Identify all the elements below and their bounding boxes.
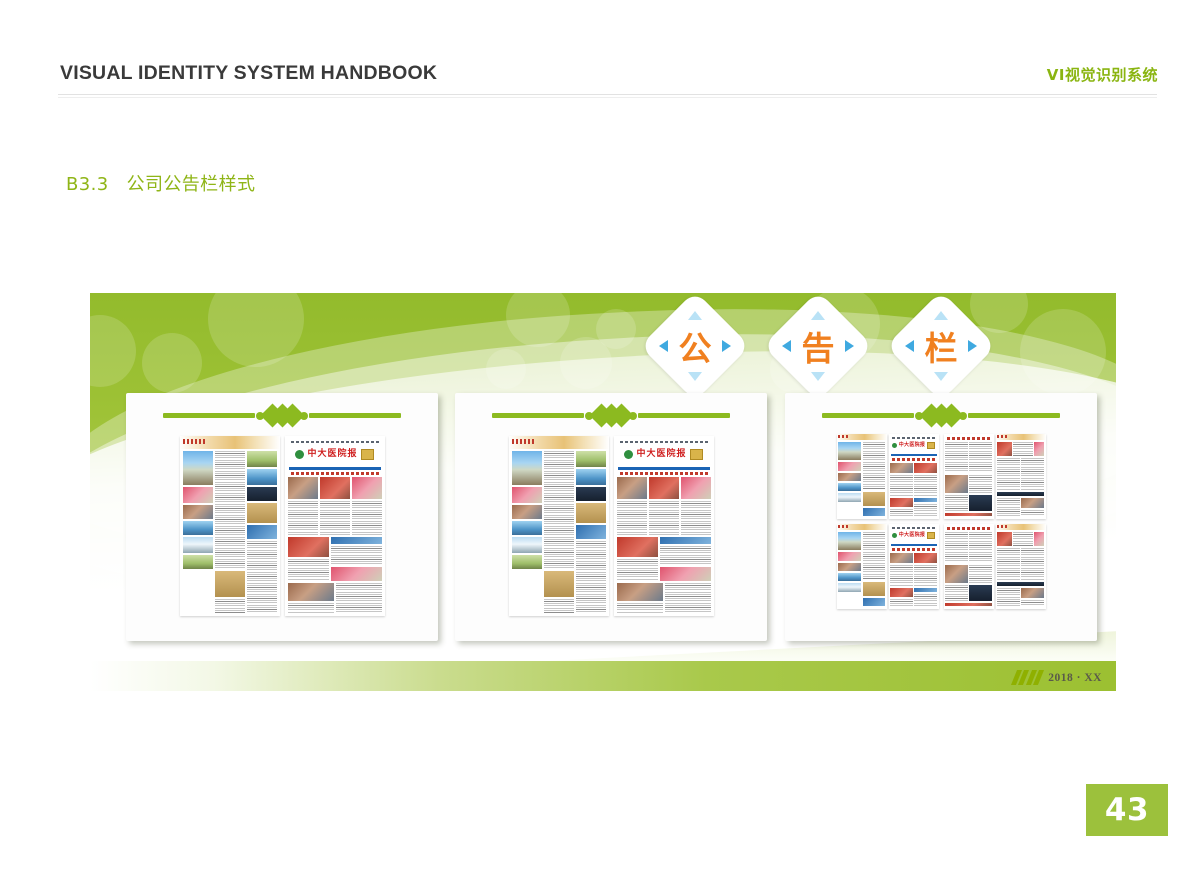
board-footer-strip — [90, 661, 1116, 691]
np-topbar — [837, 434, 887, 440]
np-topbar — [837, 524, 887, 530]
newspaper-title: 中大医院报 — [891, 532, 937, 539]
newspaper-page-masthead: 中大医院报 — [889, 434, 939, 519]
header-divider — [58, 94, 1157, 95]
newspaper-spread: 中大医院报 — [509, 436, 714, 616]
newspaper-page-masthead: 中大医院报 — [285, 436, 385, 616]
section-code: B3.3 — [66, 174, 109, 195]
section-heading: B3.3公司公告栏样式 — [66, 170, 255, 196]
np-body — [180, 449, 280, 616]
newspaper-page — [996, 524, 1046, 609]
newspaper-page — [509, 436, 609, 616]
newspaper-page-masthead: 中大医院报 — [614, 436, 714, 616]
np-blue-rule — [289, 467, 381, 470]
newspaper-title: 中大医院报 — [289, 449, 381, 460]
np-body — [614, 475, 714, 616]
np-blue-rule — [618, 467, 710, 470]
np-body — [944, 530, 994, 609]
np-masthead: 中大医院报 — [285, 443, 385, 466]
panel-divider — [126, 407, 438, 424]
np-stamp-icon — [690, 449, 703, 460]
header-divider-secondary — [58, 97, 1157, 98]
np-blue-rule — [891, 454, 937, 457]
np-topbar — [509, 436, 609, 449]
np-body — [889, 551, 939, 609]
newspaper-page — [180, 436, 280, 616]
newspaper-title: 中大医院报 — [618, 449, 710, 460]
hospital-logo-icon — [295, 450, 304, 459]
np-stamp-icon — [927, 442, 935, 449]
divider-diamonds-icon — [267, 407, 297, 424]
board-date-text: 2018 · XX — [1048, 672, 1102, 684]
hospital-logo-icon — [624, 450, 633, 459]
newspaper-grid: 中大医院报 — [837, 434, 1046, 609]
np-body — [509, 449, 609, 616]
newspaper-page-masthead: 中大医院报 — [889, 524, 939, 609]
newspaper-page — [837, 434, 887, 519]
section-name: 公司公告栏样式 — [127, 174, 256, 195]
np-stamp-icon — [361, 449, 374, 460]
np-blue-rule — [891, 544, 937, 547]
bulletin-panel-left[interactable]: 中大医院报 — [126, 393, 438, 641]
newspaper-page — [996, 434, 1046, 519]
display-panels: 中大医院报 — [90, 293, 1116, 691]
panel-divider — [785, 407, 1097, 424]
np-body — [837, 440, 887, 519]
divider-diamonds-icon — [926, 407, 956, 424]
header-brand-label: VI视觉识别系统 — [1047, 64, 1158, 85]
np-topbar — [180, 436, 280, 449]
np-topbar — [996, 434, 1046, 440]
np-stamp-icon — [927, 532, 935, 539]
newspaper-page — [944, 434, 994, 519]
newspaper-page — [837, 524, 887, 609]
np-topbar — [996, 524, 1046, 530]
hospital-logo-icon — [892, 533, 897, 538]
np-body — [285, 475, 385, 616]
newspaper-page — [944, 524, 994, 609]
board-date: 2018 · XX — [1014, 670, 1102, 685]
np-masthead: 中大医院报 — [889, 439, 939, 453]
bulletin-panel-center[interactable]: 中大医院报 — [455, 393, 767, 641]
newspaper-spread: 中大医院报 — [180, 436, 385, 616]
np-body — [837, 530, 887, 609]
panel-divider — [455, 407, 767, 424]
np-body — [944, 440, 994, 519]
divider-diamonds-icon — [596, 407, 626, 424]
bulletin-panel-right[interactable]: 中大医院报 — [785, 393, 1097, 641]
np-masthead: 中大医院报 — [889, 529, 939, 543]
page-header: VISUAL IDENTITY SYSTEM HANDBOOK VI视觉识别系统 — [0, 0, 1200, 100]
np-body — [996, 440, 1046, 519]
hospital-logo-icon — [892, 443, 897, 448]
np-body — [996, 530, 1046, 609]
page-number-badge: 43 — [1086, 784, 1168, 836]
np-masthead: 中大医院报 — [614, 443, 714, 466]
slash-marks-icon — [1014, 670, 1042, 685]
page-title: VISUAL IDENTITY SYSTEM HANDBOOK — [60, 62, 437, 85]
newspaper-title: 中大医院报 — [891, 442, 937, 449]
bulletin-board-mockup: 公 告 栏 — [90, 293, 1116, 691]
np-body — [889, 461, 939, 519]
